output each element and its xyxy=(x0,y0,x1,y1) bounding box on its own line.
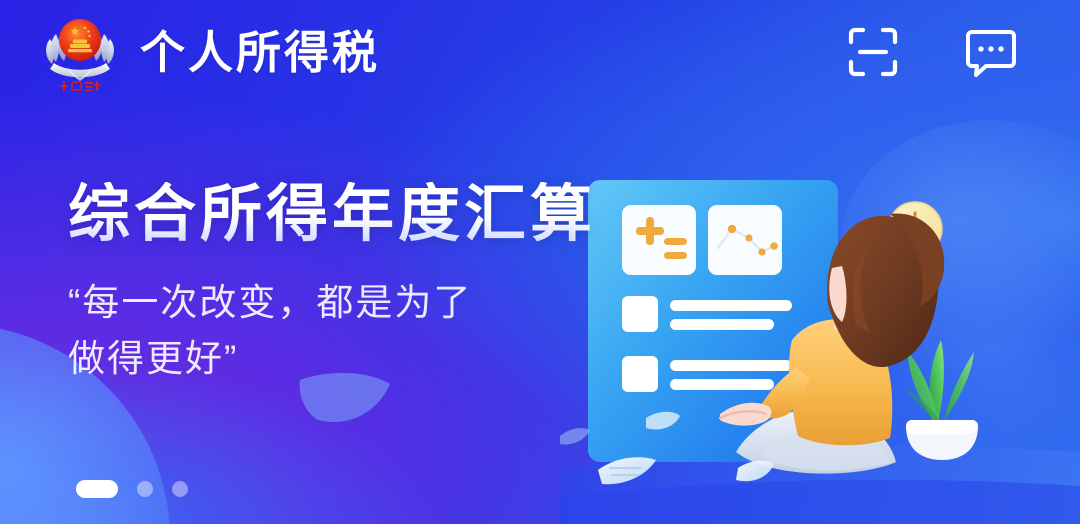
hero-subtitle-line-2: 做得更好” xyxy=(68,331,596,387)
floating-paper xyxy=(560,428,590,444)
chat-icon[interactable] xyxy=(962,23,1020,81)
pagination-dot-1[interactable] xyxy=(76,480,118,498)
carousel-pagination xyxy=(76,480,188,498)
hero-copy: 综合所得年度汇算 “每一次改变，都是为了 做得更好” xyxy=(68,182,596,387)
potted-plant-icon xyxy=(904,340,978,460)
app-header: 个人所得税 xyxy=(0,0,1080,104)
hero-subtitle-line-1: “每一次改变，都是为了 xyxy=(68,275,596,331)
calculator-card xyxy=(622,205,696,275)
app-title: 个人所得税 xyxy=(140,30,380,75)
line-chart-card xyxy=(708,205,782,275)
china-taxation-emblem xyxy=(38,6,122,98)
header-actions xyxy=(844,23,1046,81)
promo-banner-screen: 个人所得税 xyxy=(0,0,1080,524)
pagination-dot-3[interactable] xyxy=(172,481,188,497)
pagination-dot-2[interactable] xyxy=(137,481,153,497)
page-title: 综合所得年度汇算 xyxy=(68,182,596,249)
scan-icon[interactable] xyxy=(844,23,902,81)
